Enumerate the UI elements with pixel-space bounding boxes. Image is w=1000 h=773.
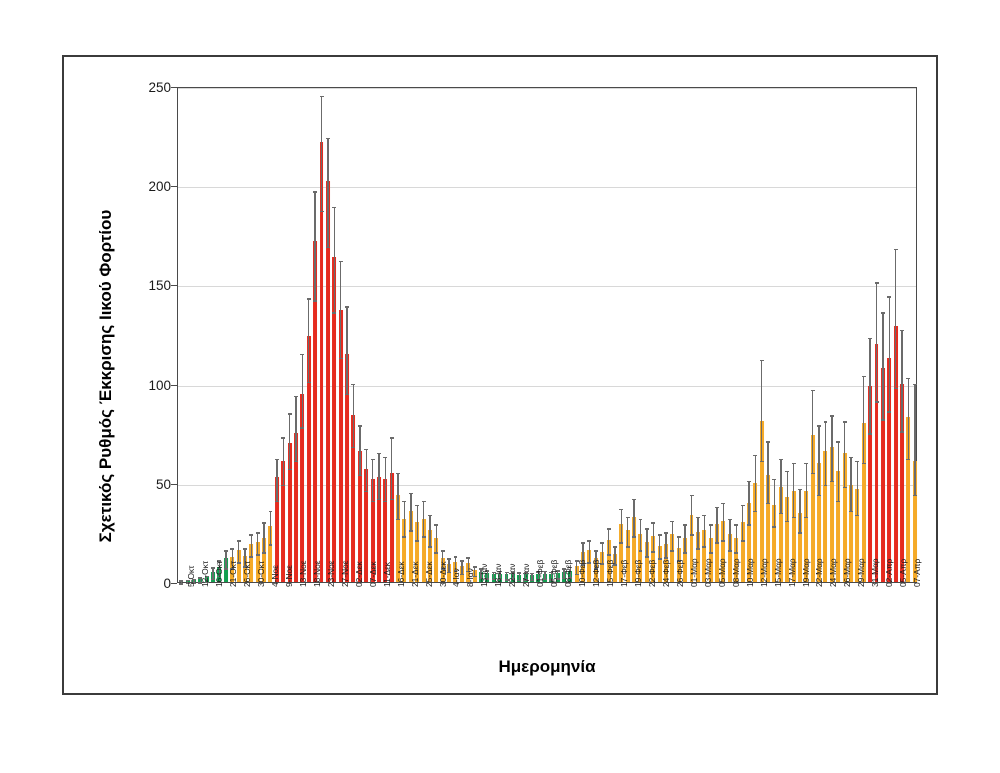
error-bar-cap-lower xyxy=(651,551,655,552)
error-bar-cap-upper xyxy=(428,515,432,516)
error-bar-line xyxy=(627,517,628,547)
x-tick-label: 11-Δεκ xyxy=(383,562,391,587)
error-bar-cap-lower xyxy=(881,419,885,420)
error-bar-cap-upper xyxy=(875,282,879,283)
error-bar-cap-upper xyxy=(396,473,400,474)
x-tick-label: 8-Ιαν xyxy=(466,568,474,587)
error-bar-line xyxy=(914,384,915,495)
error-bar-cap-lower xyxy=(249,556,253,557)
x-tick-label: 5-Οκτ xyxy=(187,566,195,587)
error-bar-cap-upper xyxy=(351,384,355,385)
x-tick-label: 12-Οκτ xyxy=(201,561,209,587)
error-bar-cap-lower xyxy=(371,501,375,502)
error-bar-cap-lower xyxy=(326,247,330,248)
x-tick-label: 12-Μαρ xyxy=(760,558,768,587)
error-bar-line xyxy=(372,459,373,501)
error-bar-line xyxy=(806,463,807,517)
error-bar-cap-lower xyxy=(364,491,368,492)
y-tick-label: 50 xyxy=(131,478,171,492)
error-bar-cap-lower xyxy=(696,548,700,549)
error-bar-cap-lower xyxy=(288,469,292,470)
x-tick-label: 16-Οκτ xyxy=(215,561,223,587)
error-bar-cap-lower xyxy=(281,485,285,486)
error-bar-cap-lower xyxy=(753,511,757,512)
x-tick-label: 17-Φεβ xyxy=(620,560,628,587)
error-bar-cap-upper xyxy=(364,449,368,450)
error-bar-cap-upper xyxy=(900,330,904,331)
error-bar-cap-lower xyxy=(300,427,304,428)
error-bar-cap-upper xyxy=(243,548,247,549)
error-bar-line xyxy=(302,354,303,427)
x-axis-title: Ημερομηνία xyxy=(177,657,917,677)
error-bar-line xyxy=(901,330,902,431)
error-bar-cap-lower xyxy=(721,540,725,541)
error-bar-cap-upper xyxy=(294,396,298,397)
error-bar-line xyxy=(608,528,609,554)
error-bar-cap-upper xyxy=(447,558,451,559)
error-bar-line xyxy=(225,550,226,568)
error-bar-cap-lower xyxy=(645,556,649,557)
error-bar-cap-lower xyxy=(741,540,745,541)
error-bar-cap-upper xyxy=(772,479,776,480)
x-tick-label: 10-Μαρ xyxy=(746,558,754,587)
error-bar-line xyxy=(659,534,660,558)
error-bar-cap-lower xyxy=(294,461,298,462)
x-tick-label: 16-Δεκ xyxy=(397,561,405,587)
x-tick-label: 02-Δεκ xyxy=(355,561,363,587)
error-bar-line xyxy=(857,461,858,515)
error-bar-cap-lower xyxy=(734,552,738,553)
error-bar-line xyxy=(283,437,284,485)
x-tick-label: 25-Δεκ xyxy=(425,561,433,587)
x-tick-label: 30-Δεκ xyxy=(439,561,447,587)
error-bar-cap-lower xyxy=(434,552,438,553)
x-tick-label: 08-Μαρ xyxy=(732,558,740,587)
error-bar-cap-lower xyxy=(422,536,426,537)
error-bar-line xyxy=(417,505,418,541)
error-bar-cap-lower xyxy=(779,513,783,514)
error-bar-cap-lower xyxy=(639,550,643,551)
x-tick-label: 13-Νοε xyxy=(299,560,307,587)
error-bar-cap-upper xyxy=(728,519,732,520)
error-bar-line xyxy=(314,191,315,300)
x-tick-label: 4-Ιαν xyxy=(452,568,460,587)
error-bar-cap-upper xyxy=(913,384,917,385)
error-bar-cap-upper xyxy=(275,459,279,460)
error-bar-line xyxy=(755,455,756,511)
error-bar-cap-upper xyxy=(422,501,426,502)
error-bar-cap-upper xyxy=(702,515,706,516)
error-bar-cap-upper xyxy=(792,463,796,464)
x-tick-label: 27-Ιαν xyxy=(522,564,530,587)
error-bar-cap-lower xyxy=(377,499,381,500)
error-bar-line xyxy=(327,138,328,247)
error-bar-cap-lower xyxy=(855,515,859,516)
error-bar-cap-lower xyxy=(913,495,917,496)
error-bar-cap-lower xyxy=(772,526,776,527)
error-bar-line xyxy=(251,534,252,556)
error-bar-cap-lower xyxy=(415,540,419,541)
error-bar-line xyxy=(831,415,832,480)
x-tick-label: 29-Μαρ xyxy=(857,558,865,587)
error-bar-cap-upper xyxy=(466,557,470,558)
error-bar-cap-upper xyxy=(836,441,840,442)
x-tick-label: 26-Οκτ xyxy=(243,561,251,587)
error-bar-line xyxy=(340,261,341,358)
error-bar-line xyxy=(353,384,354,447)
error-bar-cap-upper xyxy=(281,437,285,438)
error-bar-cap-upper xyxy=(683,524,687,525)
error-bar-cap-upper xyxy=(843,421,847,422)
error-bar-cap-upper xyxy=(741,505,745,506)
error-bar-cap-lower xyxy=(690,534,694,535)
error-bar-cap-lower xyxy=(269,544,273,545)
error-bar-line xyxy=(774,479,775,527)
x-tick-label: 03-Μαρ xyxy=(704,558,712,587)
error-bar-line xyxy=(812,390,813,473)
error-bar-cap-lower xyxy=(715,542,719,543)
error-bar-line xyxy=(850,457,851,511)
x-tick-label: 9-Νοε xyxy=(285,565,293,587)
error-bar-line xyxy=(238,540,239,562)
error-bar-cap-lower xyxy=(862,463,866,464)
error-bar-line xyxy=(716,507,717,543)
error-bar-line xyxy=(799,489,800,533)
x-tick-label: 15-Φεβ xyxy=(606,560,614,587)
x-tick-label: 27-Νοε xyxy=(341,560,349,587)
error-bar-line xyxy=(736,524,737,552)
error-bar-cap-upper xyxy=(441,550,445,551)
error-bar-cap-lower xyxy=(307,382,311,383)
error-bar-cap-upper xyxy=(658,534,662,535)
x-tick-label: 05-Απρ xyxy=(899,559,907,587)
error-bar-cap-upper xyxy=(339,261,343,262)
x-tick-label: 01-Φεβ xyxy=(536,560,544,587)
error-bar-cap-upper xyxy=(906,378,910,379)
error-bar-cap-lower xyxy=(900,431,904,432)
error-bar-cap-upper xyxy=(887,296,891,297)
error-bar-line xyxy=(436,524,437,552)
x-tick-label: 26-Φεβ xyxy=(676,560,684,587)
error-bar-line xyxy=(653,522,654,551)
error-bar-cap-upper xyxy=(320,96,324,97)
error-bar-line xyxy=(672,521,673,551)
error-bar-cap-upper xyxy=(269,511,273,512)
error-bar-cap-upper xyxy=(224,550,228,551)
error-bar-cap-lower xyxy=(798,532,802,533)
error-bar-line xyxy=(729,519,730,551)
x-tick-label: 07-Απρ xyxy=(913,559,921,587)
error-bar-line xyxy=(448,558,449,572)
y-axis-title-wrap: Σχετικός Ρυθμός Έκκρισης Ιικού Φορτίου xyxy=(92,127,120,627)
x-tick-label: 23-Νοε xyxy=(327,560,335,587)
error-bar-cap-upper xyxy=(460,560,464,561)
plot-area xyxy=(177,87,917,583)
error-bar-line xyxy=(723,503,724,541)
x-tick-label: 18-Ιαν xyxy=(494,564,502,587)
error-bar-cap-upper xyxy=(715,507,719,508)
error-bar-cap-lower xyxy=(836,501,840,502)
error-bar-cap-lower xyxy=(792,517,796,518)
error-bar-line xyxy=(621,509,622,543)
error-bar-line xyxy=(844,421,845,486)
error-bar-cap-upper xyxy=(894,249,898,250)
error-bar-cap-upper xyxy=(619,509,623,510)
error-bar-cap-lower xyxy=(804,517,808,518)
error-bar-line xyxy=(404,501,405,537)
y-tick-mark xyxy=(171,583,177,584)
error-bar-line xyxy=(793,463,794,517)
error-bar-cap-upper xyxy=(454,556,458,557)
error-bar-line xyxy=(761,360,762,461)
x-tick-label: 12-Φεβ xyxy=(592,560,600,587)
error-bar-cap-upper xyxy=(849,457,853,458)
error-bar-cap-upper xyxy=(753,455,757,456)
error-bar-cap-lower xyxy=(619,542,623,543)
x-tick-label: 22-Ιαν xyxy=(508,564,516,587)
error-bar-cap-upper xyxy=(581,542,585,543)
error-bar-cap-upper xyxy=(785,471,789,472)
error-bar-cap-upper xyxy=(288,413,292,414)
error-bar-cap-upper xyxy=(607,528,611,529)
error-bar-line xyxy=(678,536,679,560)
x-tick-label: 02-Απρ xyxy=(885,559,893,587)
error-bar-cap-upper xyxy=(371,459,375,460)
x-tick-label: 10-Φεβ xyxy=(578,560,586,587)
x-tick-label: 18-Νοε xyxy=(313,560,321,587)
error-bar-line xyxy=(289,413,290,469)
error-bar-cap-upper xyxy=(326,138,330,139)
error-bar-cap-upper xyxy=(626,517,630,518)
error-bar-cap-upper xyxy=(804,463,808,464)
y-tick-label: 200 xyxy=(131,180,171,194)
x-tick-label: 17-Μαρ xyxy=(788,558,796,587)
error-bar-cap-upper xyxy=(307,298,311,299)
error-bar-cap-upper xyxy=(779,459,783,460)
x-tick-label: 15-Μαρ xyxy=(774,558,782,587)
error-bar-cap-lower xyxy=(894,388,898,389)
x-tick-label: 08-Φεβ xyxy=(564,560,572,587)
error-bar-line xyxy=(710,524,711,552)
error-bar-cap-upper xyxy=(855,461,859,462)
error-bar-cap-upper xyxy=(664,532,668,533)
error-bar-cap-lower xyxy=(709,552,713,553)
error-bar-cap-lower xyxy=(256,554,260,555)
x-tick-label: 19-Φεβ xyxy=(634,560,642,587)
y-axis-ticks: 050100150200250 xyxy=(127,87,171,583)
error-bar-line xyxy=(742,505,743,541)
error-bar-line xyxy=(334,207,335,312)
error-bar-line xyxy=(876,282,877,401)
error-bar-cap-upper xyxy=(766,441,770,442)
error-bar-cap-upper xyxy=(798,489,802,490)
error-bar-cap-lower xyxy=(824,485,828,486)
error-bar-line xyxy=(889,296,890,411)
error-bar-line xyxy=(767,441,768,503)
error-bar-line xyxy=(869,338,870,433)
error-bar-cap-lower xyxy=(875,401,879,402)
error-bar-line xyxy=(429,515,430,547)
x-tick-label: 19-Μαρ xyxy=(802,558,810,587)
error-bar-cap-upper xyxy=(390,437,394,438)
x-tick-label: 30-Οκτ xyxy=(257,561,265,587)
error-bar-cap-lower xyxy=(906,459,910,460)
error-bar-line xyxy=(691,495,692,535)
error-bar-cap-upper xyxy=(332,207,336,208)
error-bar-cap-lower xyxy=(409,530,413,531)
error-bar-line xyxy=(257,532,258,554)
error-bar-cap-upper xyxy=(409,493,413,494)
error-bar-line xyxy=(895,249,896,388)
error-bar-cap-lower xyxy=(632,536,636,537)
error-bar-cap-lower xyxy=(747,524,751,525)
error-bar-cap-upper xyxy=(677,536,681,537)
error-bar-line xyxy=(295,396,296,461)
error-bar-line xyxy=(263,522,264,552)
y-tick-label: 150 xyxy=(131,279,171,293)
x-tick-label: 05-Φεβ xyxy=(550,560,558,587)
error-bar-line xyxy=(423,501,424,537)
error-bar-cap-upper xyxy=(696,517,700,518)
error-bar-line xyxy=(882,312,883,419)
error-bar-cap-upper xyxy=(402,501,406,502)
error-bar-cap-lower xyxy=(402,536,406,537)
error-bar-cap-lower xyxy=(607,554,611,555)
error-bar-cap-upper xyxy=(434,524,438,525)
error-bar-cap-lower xyxy=(390,499,394,500)
error-bar-cap-upper xyxy=(830,415,834,416)
x-tick-label: 13-Ιαν xyxy=(480,564,488,587)
x-tick-label: 24-Φεβ xyxy=(662,560,670,587)
error-bar-line xyxy=(748,481,749,525)
error-bar-line xyxy=(787,471,788,521)
error-bar-line xyxy=(276,459,277,501)
x-tick-label: 01-Μαρ xyxy=(690,558,698,587)
error-bar-cap-upper xyxy=(377,453,381,454)
error-bar-line xyxy=(589,540,590,562)
error-bar-line xyxy=(378,453,379,499)
error-bar-cap-upper xyxy=(862,376,866,377)
error-bar-line xyxy=(704,515,705,547)
error-bar-cap-lower xyxy=(332,312,336,313)
y-tick-label: 250 xyxy=(131,81,171,95)
error-bar-cap-lower xyxy=(811,473,815,474)
x-tick-label: 05-Μαρ xyxy=(718,558,726,587)
error-bar-line xyxy=(366,449,367,491)
error-bar-cap-upper xyxy=(690,495,694,496)
error-bar-cap-upper xyxy=(811,390,815,391)
error-bar-cap-lower xyxy=(760,461,764,462)
error-bar-cap-lower xyxy=(345,394,349,395)
error-bar-cap-lower xyxy=(351,447,355,448)
error-bar-cap-lower xyxy=(313,300,317,301)
error-bar-cap-lower xyxy=(320,211,324,212)
error-bar-line xyxy=(633,499,634,537)
error-bar-line xyxy=(385,457,386,501)
error-bar-cap-upper xyxy=(249,534,253,535)
x-tick-label: 24-Μαρ xyxy=(829,558,837,587)
error-bar-cap-upper xyxy=(237,540,241,541)
error-bar-cap-lower xyxy=(702,546,706,547)
error-bar-line xyxy=(908,378,909,459)
error-bar-cap-upper xyxy=(670,521,674,522)
error-bar-cap-lower xyxy=(830,481,834,482)
error-bar-cap-lower xyxy=(785,521,789,522)
error-bar-cap-lower xyxy=(428,546,432,547)
error-bar-line xyxy=(270,511,271,545)
error-bar-cap-upper xyxy=(824,421,828,422)
error-bar-line xyxy=(346,306,347,393)
error-bar-line xyxy=(684,524,685,552)
error-bar-cap-lower xyxy=(843,487,847,488)
error-bar-cap-upper xyxy=(262,522,266,523)
error-bar-cap-upper xyxy=(868,338,872,339)
x-tick-label: 26-Μαρ xyxy=(843,558,851,587)
chart-figure: Σχετικός Ρυθμός Έκκρισης Ιικού Φορτίου 0… xyxy=(62,55,938,695)
error-bar-line xyxy=(321,96,322,211)
error-bar-line xyxy=(640,519,641,551)
error-bar-cap-upper xyxy=(230,548,234,549)
bar-slot xyxy=(912,88,918,582)
error-bar-cap-lower xyxy=(683,552,687,553)
error-bar-cap-upper xyxy=(594,550,598,551)
error-bar-cap-lower xyxy=(670,550,674,551)
error-bar-line xyxy=(308,298,309,381)
error-bar-line xyxy=(818,425,819,494)
error-bar-cap-upper xyxy=(747,481,751,482)
error-bar-cap-upper xyxy=(345,306,349,307)
error-bar-cap-upper xyxy=(383,457,387,458)
error-bar-cap-lower xyxy=(849,511,853,512)
y-tick-label: 0 xyxy=(131,577,171,591)
error-bar-cap-lower xyxy=(262,552,266,553)
error-bar-cap-lower xyxy=(396,519,400,520)
error-bar-cap-lower xyxy=(664,557,668,558)
error-bar-line xyxy=(410,493,411,531)
error-bar-cap-upper xyxy=(721,503,725,504)
error-bar-cap-lower xyxy=(766,503,770,504)
error-bar-cap-upper xyxy=(651,522,655,523)
error-bar-line xyxy=(602,542,603,563)
error-bar-line xyxy=(863,376,864,463)
error-bar-cap-upper xyxy=(358,425,362,426)
x-tick-label: 4-Νοε xyxy=(271,565,279,587)
error-bar-cap-lower xyxy=(626,546,630,547)
error-bar-cap-upper xyxy=(645,528,649,529)
error-bar-cap-lower xyxy=(728,550,732,551)
error-bar-cap-lower xyxy=(887,411,891,412)
error-bar-line xyxy=(461,560,462,574)
error-bar-cap-upper xyxy=(587,540,591,541)
error-bar-line xyxy=(646,528,647,556)
error-bar-cap-lower xyxy=(383,501,387,502)
error-bar-cap-upper xyxy=(734,524,738,525)
y-axis-title: Σχετικός Ρυθμός Έκκρισης Ιικού Φορτίου xyxy=(96,136,116,616)
x-tick-label: 21-Δεκ xyxy=(411,561,419,587)
error-bar-cap-lower xyxy=(868,433,872,434)
error-bar-cap-upper xyxy=(313,191,317,192)
x-tick-label: 21-Οκτ xyxy=(229,561,237,587)
error-bar-line xyxy=(838,441,839,501)
error-bar-cap-lower xyxy=(358,475,362,476)
error-bar-cap-upper xyxy=(632,499,636,500)
error-bar-cap-upper xyxy=(179,580,183,581)
error-bar-cap-upper xyxy=(760,360,764,361)
error-bar-line xyxy=(665,532,666,557)
x-tick-label: 22-Μαρ xyxy=(815,558,823,587)
error-bar-cap-upper xyxy=(881,312,885,313)
x-axis-ticks: 5-Οκτ12-Οκτ16-Οκτ21-Οκτ26-Οκτ30-Οκτ4-Νοε… xyxy=(177,585,917,663)
